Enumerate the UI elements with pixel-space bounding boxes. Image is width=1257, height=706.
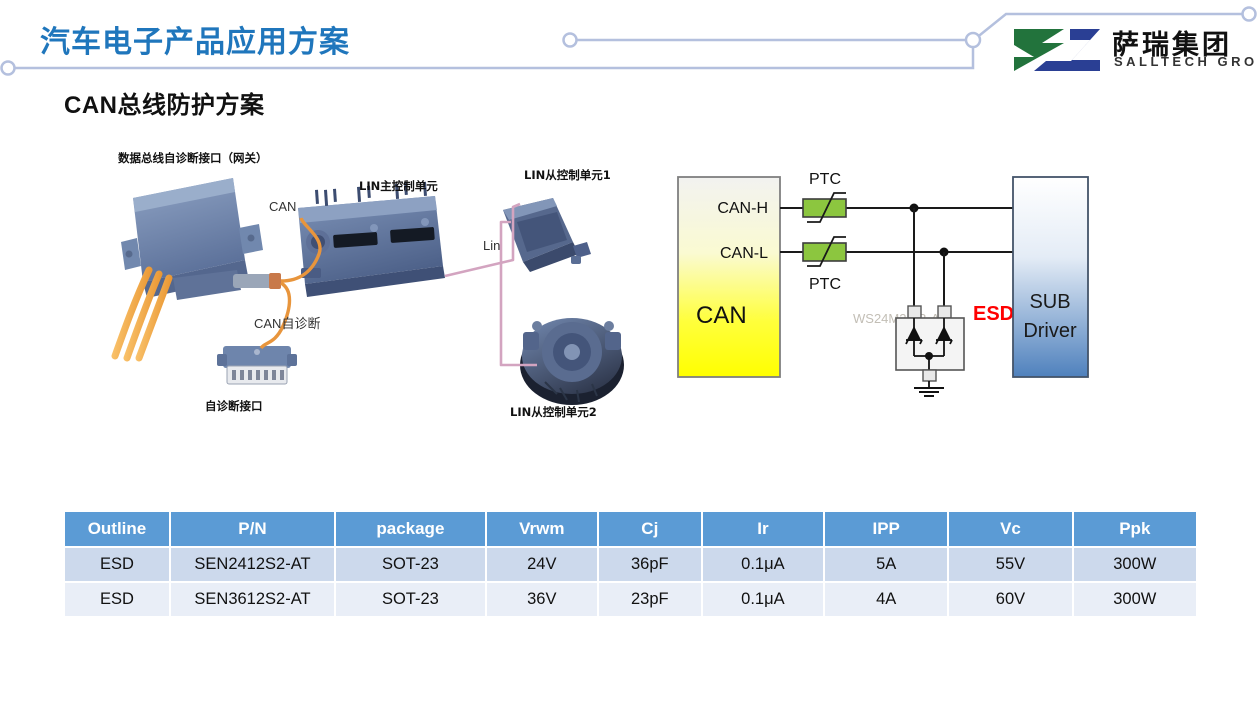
deco-circle-junction: [966, 33, 980, 47]
table-row: ESD SEN3612S2-AT SOT-23 36V 23pF 0.1μA 4…: [64, 582, 1197, 617]
esd-callout-label: ESD: [973, 303, 1014, 325]
col-header-cj: Cj: [598, 511, 702, 547]
cell-cj: 36pF: [598, 547, 702, 582]
col-header-ppk: Ppk: [1073, 511, 1197, 547]
ptc-top-label: PTC: [809, 171, 841, 188]
col-header-pn: P/N: [170, 511, 335, 547]
cell-outline: ESD: [64, 547, 170, 582]
lin-master-ecu-image: [298, 182, 445, 297]
brand-logo: 萨瑞集团 SALLTECH GROUP: [1012, 27, 1252, 75]
sub-driver-block: [1013, 177, 1088, 377]
col-header-outline: Outline: [64, 511, 170, 547]
label-lin-master: LIN主控制单元: [359, 178, 438, 194]
cell-package: SOT-23: [335, 547, 486, 582]
salltech-logo-icon: [1012, 27, 1102, 73]
ptc-bottom: [803, 237, 846, 266]
col-header-vc: Vc: [948, 511, 1072, 547]
label-can: CAN: [269, 199, 296, 214]
label-lin: Lin: [483, 238, 500, 253]
ptc-bottom-label: PTC: [809, 276, 841, 293]
sub-driver-label-line1: SUB: [1029, 291, 1070, 313]
esd-device: [896, 306, 964, 396]
cell-cj: 23pF: [598, 582, 702, 617]
col-header-package: package: [335, 511, 486, 547]
cell-package: SOT-23: [335, 582, 486, 617]
cell-ir: 0.1μA: [702, 547, 824, 582]
label-can-diagnostic: CAN自诊断: [254, 313, 320, 332]
col-header-vrwm: Vrwm: [486, 511, 598, 547]
automotive-bus-diagram: 数据总线自诊断接口（网关） CAN CAN自诊断 自诊断接口 LIN主控制单元 …: [105, 150, 665, 425]
lin-slave1-image: [503, 198, 591, 272]
slide-root: 汽车电子产品应用方案 CAN总线防护方案 萨瑞集团 SALLTECH GROUP: [0, 0, 1257, 706]
col-header-ipp: IPP: [824, 511, 948, 547]
sub-driver-label-line2: Driver: [1023, 320, 1077, 342]
label-lin-slave-1: LIN从控制单元1: [524, 167, 611, 183]
table-header-row: Outline P/N package Vrwm Cj Ir IPP Vc Pp…: [64, 511, 1197, 547]
page-title: 汽车电子产品应用方案: [40, 17, 350, 61]
schematic-graphic: CAN-H CAN-L CAN PTC PTC WS24M21-B-AT: [668, 160, 1138, 400]
cell-ir: 0.1μA: [702, 582, 824, 617]
label-obd-connector: 自诊断接口: [205, 398, 263, 414]
section-subtitle: CAN总线防护方案: [64, 85, 265, 120]
can-h-pin-label: CAN-H: [717, 200, 768, 217]
lin-slave2-motor-image: [520, 318, 624, 405]
table-row: ESD SEN2412S2-AT SOT-23 24V 36pF 0.1μA 5…: [64, 547, 1197, 582]
ptc-top: [803, 193, 846, 222]
label-lin-slave-2: LIN从控制单元2: [510, 404, 597, 420]
cell-ipp: 5A: [824, 547, 948, 582]
col-header-ir: Ir: [702, 511, 824, 547]
deco-circle-middle: [564, 34, 577, 47]
can-l-pin-label: CAN-L: [720, 245, 768, 262]
label-gateway: 数据总线自诊断接口（网关）: [118, 150, 268, 166]
deco-circle-right: [1243, 8, 1256, 21]
cell-outline: ESD: [64, 582, 170, 617]
cell-vc: 60V: [948, 582, 1072, 617]
logo-english-name: SALLTECH GROUP: [1114, 54, 1257, 69]
cell-ppk: 300W: [1073, 547, 1197, 582]
obd-connector-image: [217, 346, 297, 384]
can-block-label: CAN: [696, 302, 747, 329]
cell-vc: 55V: [948, 547, 1072, 582]
can-protection-schematic: CAN-H CAN-L CAN PTC PTC WS24M21-B-AT: [668, 160, 1138, 400]
deco-circle-left: [2, 62, 15, 75]
cell-pn: SEN3612S2-AT: [170, 582, 335, 617]
cell-vrwm: 36V: [486, 582, 598, 617]
cell-ppk: 300W: [1073, 582, 1197, 617]
cell-pn: SEN2412S2-AT: [170, 547, 335, 582]
spec-table: Outline P/N package Vrwm Cj Ir IPP Vc Pp…: [63, 510, 1198, 618]
cell-vrwm: 24V: [486, 547, 598, 582]
cell-ipp: 4A: [824, 582, 948, 617]
